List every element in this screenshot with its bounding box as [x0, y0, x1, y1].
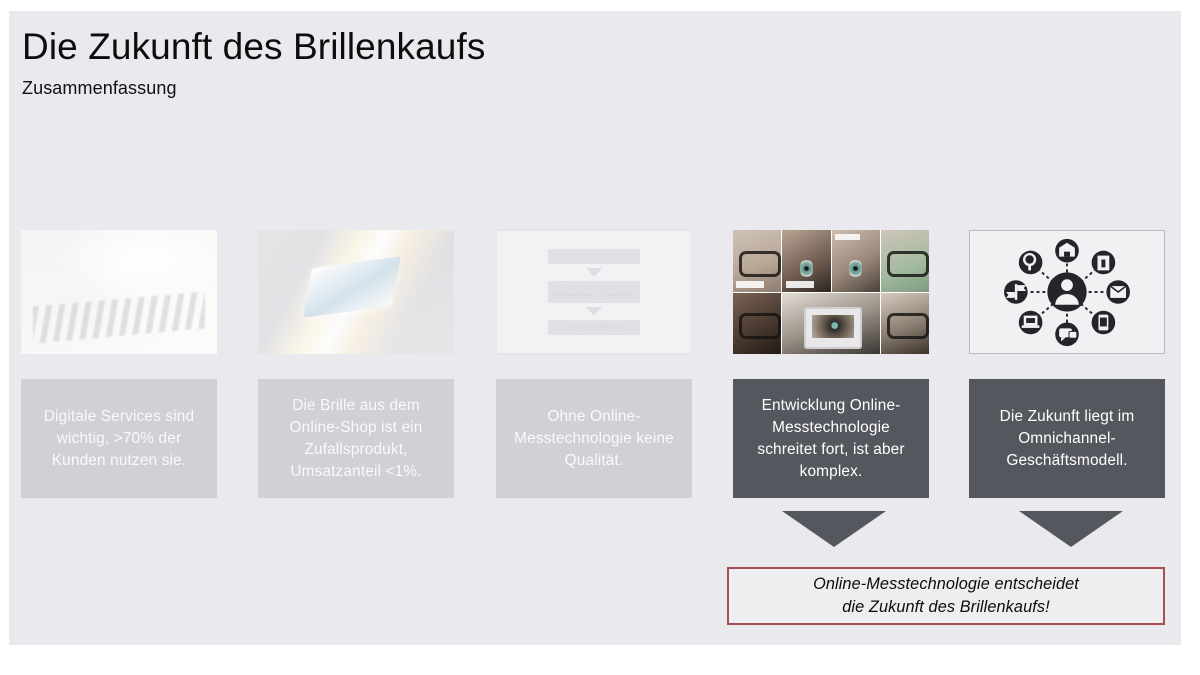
visual-photo-hands-on-keyboard	[21, 230, 217, 354]
envelope-icon	[1106, 280, 1130, 304]
collage-tile-label-bar	[835, 234, 860, 240]
collage-tile	[733, 293, 781, 355]
arrow-down-icon-omnichannel	[1019, 511, 1123, 547]
eyeglass-frame-shape	[887, 313, 929, 339]
eyeglass-frame-shape	[739, 251, 781, 277]
collage-tile	[832, 230, 880, 292]
caption-omnichannel: Die Zukunft liegt im Omnichannel-Geschäf…	[969, 379, 1165, 498]
collage-tile	[782, 230, 830, 292]
store-icon	[1055, 239, 1079, 263]
magnifier-icon	[1019, 251, 1043, 275]
document-icon	[1092, 251, 1116, 275]
collage-tile	[733, 230, 781, 292]
column-messtechnologie-entwicklung: Entwicklung Online-Messtechnologie schre…	[733, 230, 929, 354]
eye-closeup-shape	[849, 258, 862, 279]
flowchart-step-1: Online-Messtechnologie	[548, 249, 640, 264]
collage-tile-label-bar	[786, 281, 814, 288]
visual-photo-collage	[733, 230, 929, 354]
flowchart-arrow-down-icon	[586, 268, 602, 277]
page-subtitle: Zusammenfassung	[22, 77, 922, 99]
page-title: Die Zukunft des Brillenkaufs	[22, 25, 922, 69]
flowchart-image: Online-Messtechnologie Zentrierdatenermi…	[496, 230, 692, 354]
collage-tile-label-bar	[736, 281, 764, 288]
collage-tile	[881, 293, 929, 355]
collage-tile	[782, 293, 880, 355]
flowchart-arrow-down-icon	[586, 307, 602, 316]
visual-photo-prism	[258, 230, 454, 354]
tablet-device-shape	[804, 307, 863, 349]
column-digitale-services: Digitale Services sind wichtig, >70% der…	[21, 230, 217, 354]
flowchart-step-3: Ohne Qualitaet Brillenglas	[548, 320, 640, 335]
caption-digitale-services: Digitale Services sind wichtig, >70% der…	[21, 379, 217, 498]
slide-header: Die Zukunft des Brillenkaufs Zusammenfas…	[22, 25, 922, 99]
column-omnichannel: Die Zukunft liegt im Omnichannel-Geschäf…	[969, 230, 1165, 354]
photo-collage-image	[733, 230, 929, 354]
collage-tile	[881, 230, 929, 292]
visual-diagram-omnichannel-hub	[969, 230, 1165, 354]
mobile-phone-icon	[1092, 311, 1116, 335]
arrow-down-icon-messtechnologie	[782, 511, 886, 547]
keyboard-photo-image	[21, 230, 217, 354]
flowchart-step-2: Zentrierdatenermittlung / Wirkdatenermit…	[548, 281, 640, 303]
conclusion-text: Online-Messtechnologie entscheidet die Z…	[813, 573, 1079, 619]
caption-keine-qualitaet: Ohne Online-Messtechnologie keine Qualit…	[496, 379, 692, 498]
slide-canvas: Die Zukunft des Brillenkaufs Zusammenfas…	[9, 11, 1181, 645]
laptop-icon	[1019, 311, 1043, 335]
caption-messtechnologie-entwicklung: Entwicklung Online-Messtechnologie schre…	[733, 379, 929, 498]
conclusion-line-1: Online-Messtechnologie entscheidet	[813, 575, 1079, 593]
column-keine-qualitaet: Online-Messtechnologie Zentrierdatenermi…	[496, 230, 692, 354]
phoropter-shape	[739, 313, 781, 339]
visual-diagram-flowchart: Online-Messtechnologie Zentrierdatenermi…	[496, 230, 692, 354]
person-icon	[1047, 272, 1086, 311]
omnichannel-hub-image	[969, 230, 1165, 354]
caption-online-shop-brille: Die Brille aus dem Online-Shop ist ein Z…	[258, 379, 454, 498]
eyeglass-frame-shape	[887, 251, 929, 277]
column-online-shop-brille: Die Brille aus dem Online-Shop ist ein Z…	[258, 230, 454, 354]
eye-closeup-shape	[800, 258, 813, 279]
signpost-icon	[1004, 280, 1028, 304]
prism-photo-image	[258, 230, 454, 354]
conclusion-box: Online-Messtechnologie entscheidet die Z…	[727, 567, 1165, 625]
chat-icon	[1055, 323, 1079, 347]
conclusion-line-2: die Zukunft des Brillenkaufs!	[842, 598, 1049, 616]
